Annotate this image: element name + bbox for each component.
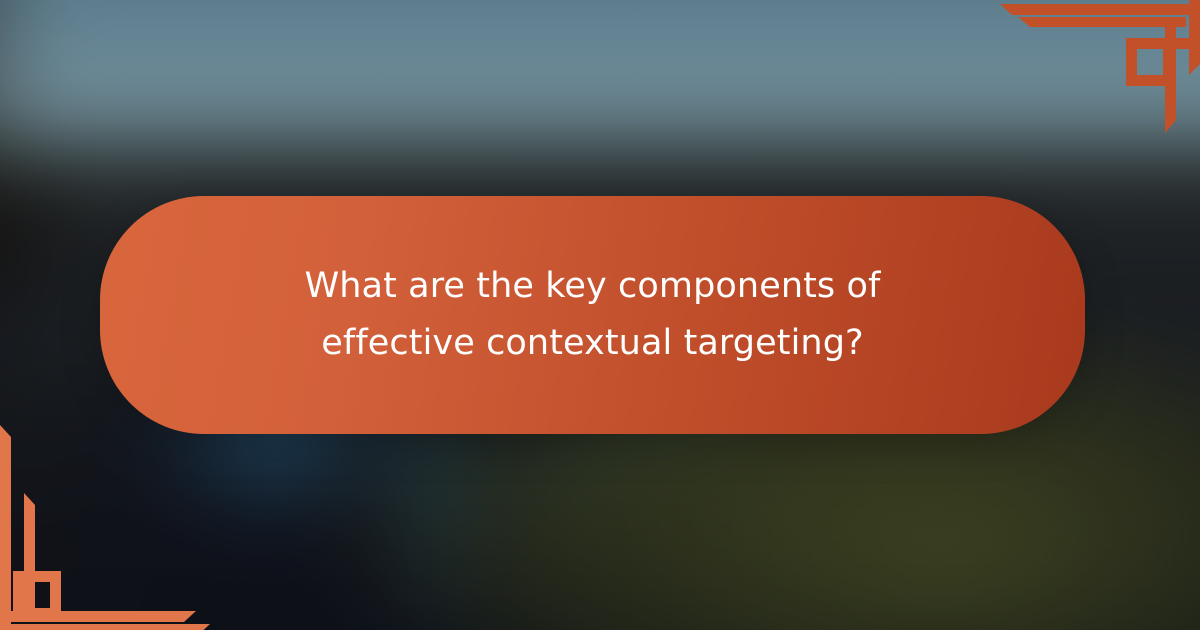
question-text: What are the key components of effective… — [228, 258, 958, 371]
question-card: What are the key components of effective… — [100, 196, 1085, 434]
social-share-card: What are the key components of effective… — [0, 0, 1200, 630]
